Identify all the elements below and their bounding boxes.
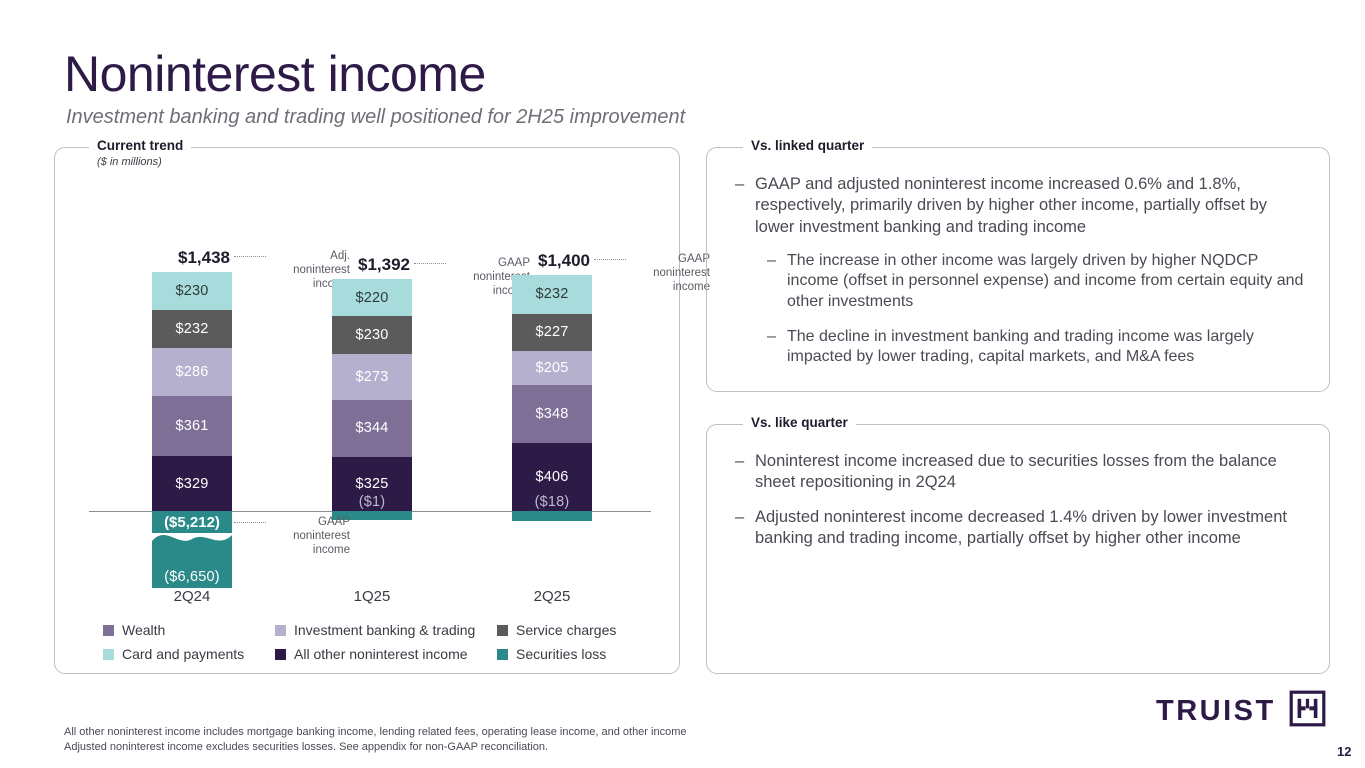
legend-item[interactable]: Card and payments xyxy=(103,646,275,662)
callout-leader-line xyxy=(234,522,266,523)
bullet-text: The decline in investment banking and tr… xyxy=(787,327,1309,368)
footnotes: All other noninterest income includes mo… xyxy=(64,725,686,755)
legend-item[interactable]: Wealth xyxy=(103,622,275,638)
axis-break-wave xyxy=(152,533,232,559)
bar-segment: $227 xyxy=(512,314,592,352)
bar-segment-label: $329 xyxy=(175,476,208,492)
bar-segment-label: $232 xyxy=(175,321,208,337)
bullet-text: Adjusted noninterest income decreased 1.… xyxy=(755,507,1309,550)
x-axis-tick-label: 1Q25 xyxy=(332,588,412,605)
truist-logo: TRUIST xyxy=(1156,690,1326,732)
bar-segment: $220 xyxy=(332,279,412,316)
panel-legend-vs-linked-quarter: Vs. linked quarter xyxy=(743,139,872,153)
legend-item-label: Card and payments xyxy=(122,646,244,662)
bar-segment-label: $361 xyxy=(175,418,208,434)
bullet-text: Noninterest income increased due to secu… xyxy=(755,451,1309,494)
bar-segment-label: $232 xyxy=(535,286,568,302)
legend-swatch-icon xyxy=(275,649,286,660)
bar-segment-label: $220 xyxy=(355,290,388,306)
vs-like-quarter-panel: Vs. like quarter –Noninterest income inc… xyxy=(706,424,1330,674)
truist-wordmark: TRUIST xyxy=(1156,697,1276,726)
bar-total-label: $1,392 xyxy=(292,255,410,275)
truist-h-mark-icon xyxy=(1289,690,1326,732)
bar-segment: $329 xyxy=(152,456,232,511)
bar-segment-label: $344 xyxy=(355,420,388,436)
legend-item[interactable]: All other noninterest income xyxy=(275,646,497,662)
bar-segment-label: $205 xyxy=(535,360,568,376)
bar-segment: $205 xyxy=(512,351,592,385)
bullet-text: GAAP and adjusted noninterest income inc… xyxy=(755,174,1309,238)
panel-legend-vs-like-quarter: Vs. like quarter xyxy=(743,416,856,430)
callout-leader-line xyxy=(414,263,446,264)
footnote-line-1: All other noninterest income includes mo… xyxy=(64,725,686,740)
bar-segment-label: $325 xyxy=(355,476,388,492)
bar-segment-label: ($6,650) xyxy=(152,569,232,585)
legend-item-label: Investment banking & trading xyxy=(294,622,475,638)
bar-segment: $230 xyxy=(332,316,412,354)
bar-group: $232$227$205$348$406 xyxy=(512,275,592,511)
legend-item-label: All other noninterest income xyxy=(294,646,468,662)
vs-like-bullet-list: –Noninterest income increased due to sec… xyxy=(735,451,1309,562)
bullet-marker-icon: – xyxy=(735,174,755,238)
sub-bullet-item: –The decline in investment banking and t… xyxy=(767,327,1309,368)
x-axis-tick-label: 2Q25 xyxy=(512,588,592,605)
negative-total-label: ($5,212) xyxy=(152,514,232,531)
legend-item-label: Service charges xyxy=(516,622,616,638)
bar-segment-negative xyxy=(512,511,592,521)
callout-leader-line xyxy=(594,259,626,260)
legend-swatch-icon xyxy=(103,625,114,636)
negative-total-callout: GAAPnoninterestincome xyxy=(268,515,350,557)
chart-legend: WealthInvestment banking & tradingServic… xyxy=(103,618,663,666)
bar-segment: $344 xyxy=(332,400,412,457)
page-subtitle: Investment banking and trading well posi… xyxy=(66,106,685,129)
bar-segment-label: $348 xyxy=(535,406,568,422)
bar-segment-label: $286 xyxy=(175,364,208,380)
sub-bullet-list: –The increase in other income was largel… xyxy=(735,251,1309,368)
legend-item[interactable]: Securities loss xyxy=(497,646,657,662)
bar-segment: $286 xyxy=(152,348,232,396)
bar-segment-label: $406 xyxy=(535,469,568,485)
bar-segment: $348 xyxy=(512,385,592,443)
bar-segment: $273 xyxy=(332,354,412,399)
bullet-item: –GAAP and adjusted noninterest income in… xyxy=(735,174,1309,238)
legend-swatch-icon xyxy=(497,625,508,636)
legend-swatch-icon xyxy=(497,649,508,660)
legend-item-label: Wealth xyxy=(122,622,165,638)
bar-segment-label: ($1) xyxy=(332,494,412,510)
bar-segment-label: $273 xyxy=(355,369,388,385)
legend-item[interactable]: Investment banking & trading xyxy=(275,622,497,638)
legend-swatch-icon xyxy=(103,649,114,660)
sub-bullet-item: –The increase in other income was largel… xyxy=(767,251,1309,313)
bar-segment-label: $227 xyxy=(535,324,568,340)
x-axis-tick-label: 2Q24 xyxy=(152,588,232,605)
page-title: Noninterest income xyxy=(64,48,486,101)
bar-segment: $232 xyxy=(512,275,592,314)
legend-item-label: Securities loss xyxy=(516,646,606,662)
bullet-item: –Adjusted noninterest income decreased 1… xyxy=(735,507,1309,550)
bar-segment-label: $230 xyxy=(355,327,388,343)
bar-group: $230$232$286$361$329 xyxy=(152,272,232,511)
bullet-marker-icon: – xyxy=(767,327,787,368)
page-number: 12 xyxy=(1337,744,1351,759)
bullet-text: The increase in other income was largely… xyxy=(787,251,1309,313)
stacked-bar-chart: $230$232$286$361$329($6,650)$1,438Adj.no… xyxy=(55,148,681,675)
bullet-item: –Noninterest income increased due to sec… xyxy=(735,451,1309,494)
bar-segment: $232 xyxy=(152,310,232,349)
bar-total-label: $1,438 xyxy=(112,248,230,268)
bullet-marker-icon: – xyxy=(735,507,755,550)
bar-total-label: $1,400 xyxy=(472,251,590,271)
vs-linked-quarter-panel: Vs. linked quarter –GAAP and adjusted no… xyxy=(706,147,1330,392)
bar-segment-label: ($18) xyxy=(512,494,592,510)
bar-group: $220$230$273$344$325 xyxy=(332,279,412,511)
bar-segment: $230 xyxy=(152,272,232,310)
bullet-marker-icon: – xyxy=(735,451,755,494)
bar-total-callout: GAAPnoninterestincome xyxy=(628,252,710,294)
footnote-line-2: Adjusted noninterest income excludes sec… xyxy=(64,740,686,755)
current-trend-panel: Current trend ($ in millions) $230$232$2… xyxy=(54,147,680,674)
bullet-marker-icon: – xyxy=(767,251,787,313)
bar-segment-label: $230 xyxy=(175,283,208,299)
bar-segment: $361 xyxy=(152,396,232,456)
callout-leader-line xyxy=(234,256,266,257)
vs-linked-bullet-list: –GAAP and adjusted noninterest income in… xyxy=(735,174,1309,382)
legend-item[interactable]: Service charges xyxy=(497,622,657,638)
legend-swatch-icon xyxy=(275,625,286,636)
